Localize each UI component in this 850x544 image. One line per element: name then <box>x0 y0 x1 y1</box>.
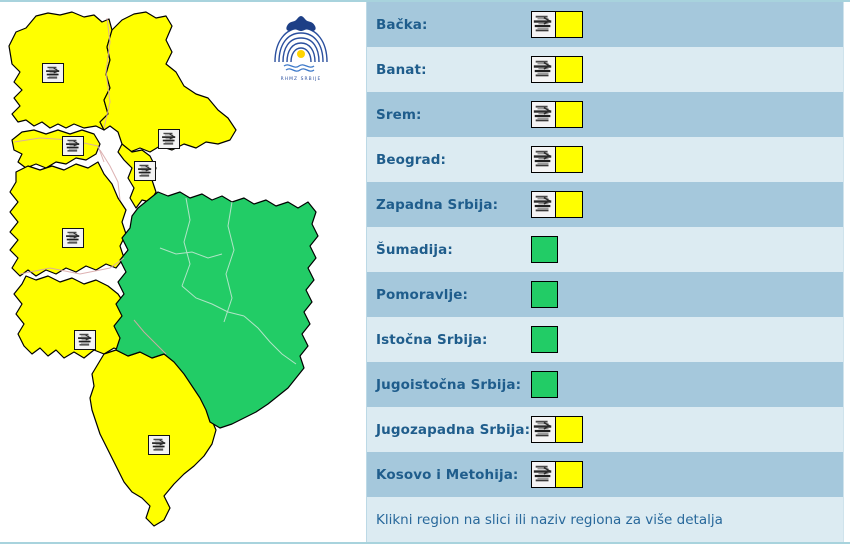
region-name-label[interactable]: Pomoravlje: <box>376 287 531 303</box>
alert-level-swatch <box>556 191 583 218</box>
region-name-label[interactable]: Banat: <box>376 62 531 78</box>
alert-level-swatch <box>556 11 583 38</box>
alert-level-swatch <box>556 101 583 128</box>
region-name-label[interactable]: Bačka: <box>376 17 531 33</box>
region-row[interactable]: Jugozapadna Srbija: <box>367 407 843 452</box>
weather-warning-page: RHMZ SRBIJE Bačka:Banat:Srem:Beograd:Zap… <box>0 0 850 544</box>
logo-caption: RHMZ SRBIJE <box>281 76 322 82</box>
region-row[interactable]: Šumadija: <box>367 227 843 272</box>
wind-warning-icon <box>531 191 556 218</box>
alert-level-swatch <box>556 461 583 488</box>
region-row[interactable]: Bačka: <box>367 2 843 47</box>
region-alert-group <box>531 326 558 353</box>
region-alert-group <box>531 101 583 128</box>
region-name-label[interactable]: Šumadija: <box>376 242 531 258</box>
region-name-label[interactable]: Jugoistočna Srbija: <box>376 377 531 393</box>
wind-warning-icon[interactable] <box>74 330 96 350</box>
alert-level-swatch <box>531 371 558 398</box>
region-rows: Bačka:Banat:Srem:Beograd:Zapadna Srbija:… <box>367 2 843 497</box>
region-alert-group <box>531 461 583 488</box>
map-panel: RHMZ SRBIJE <box>0 2 362 542</box>
footer-hint-row: Klikni region na slici ili naziv regiona… <box>367 497 843 542</box>
wind-warning-icon[interactable] <box>62 228 84 248</box>
region-alert-group <box>531 371 558 398</box>
alert-level-swatch <box>531 326 558 353</box>
region-row[interactable]: Zapadna Srbija: <box>367 182 843 227</box>
alert-level-swatch <box>556 56 583 83</box>
region-name-label[interactable]: Beograd: <box>376 152 531 168</box>
region-row[interactable]: Istočna Srbija: <box>367 317 843 362</box>
region-row[interactable]: Banat: <box>367 47 843 92</box>
wind-warning-icon[interactable] <box>148 435 170 455</box>
rhmz-logo: RHMZ SRBIJE <box>270 14 332 84</box>
wind-warning-icon[interactable] <box>62 136 84 156</box>
region-name-label[interactable]: Srem: <box>376 107 531 123</box>
wind-warning-icon <box>531 101 556 128</box>
alert-level-swatch <box>531 281 558 308</box>
region-row[interactable]: Beograd: <box>367 137 843 182</box>
region-alert-group <box>531 146 583 173</box>
region-alert-group <box>531 56 583 83</box>
region-name-label[interactable]: Kosovo i Metohija: <box>376 467 531 483</box>
map-region-srem[interactable] <box>12 130 100 168</box>
region-name-label[interactable]: Zapadna Srbija: <box>376 197 531 213</box>
wind-warning-icon[interactable] <box>134 161 156 181</box>
wind-warning-icon <box>531 416 556 443</box>
region-row[interactable]: Srem: <box>367 92 843 137</box>
alert-level-swatch <box>556 416 583 443</box>
wind-warning-icon <box>531 461 556 488</box>
region-alert-group <box>531 191 583 218</box>
wind-warning-icon <box>531 56 556 83</box>
region-list-panel: Bačka:Banat:Srem:Beograd:Zapadna Srbija:… <box>366 2 844 542</box>
region-alert-group <box>531 281 558 308</box>
region-name-label[interactable]: Istočna Srbija: <box>376 332 531 348</box>
map-region-zapadna-srbija[interactable] <box>10 162 126 276</box>
region-row[interactable]: Pomoravlje: <box>367 272 843 317</box>
region-alert-group <box>531 236 558 263</box>
sun-icon <box>297 50 305 58</box>
footer-hint-text: Klikni region na slici ili naziv regiona… <box>376 512 723 528</box>
region-alert-group <box>531 11 583 38</box>
wind-warning-icon[interactable] <box>42 63 64 83</box>
wind-warning-icon[interactable] <box>158 129 180 149</box>
alert-level-swatch <box>556 146 583 173</box>
region-row[interactable]: Kosovo i Metohija: <box>367 452 843 497</box>
wind-warning-icon <box>531 11 556 38</box>
wind-warning-icon <box>531 146 556 173</box>
region-alert-group <box>531 416 583 443</box>
alert-level-swatch <box>531 236 558 263</box>
region-name-label[interactable]: Jugozapadna Srbija: <box>376 422 531 438</box>
region-row[interactable]: Jugoistočna Srbija: <box>367 362 843 407</box>
